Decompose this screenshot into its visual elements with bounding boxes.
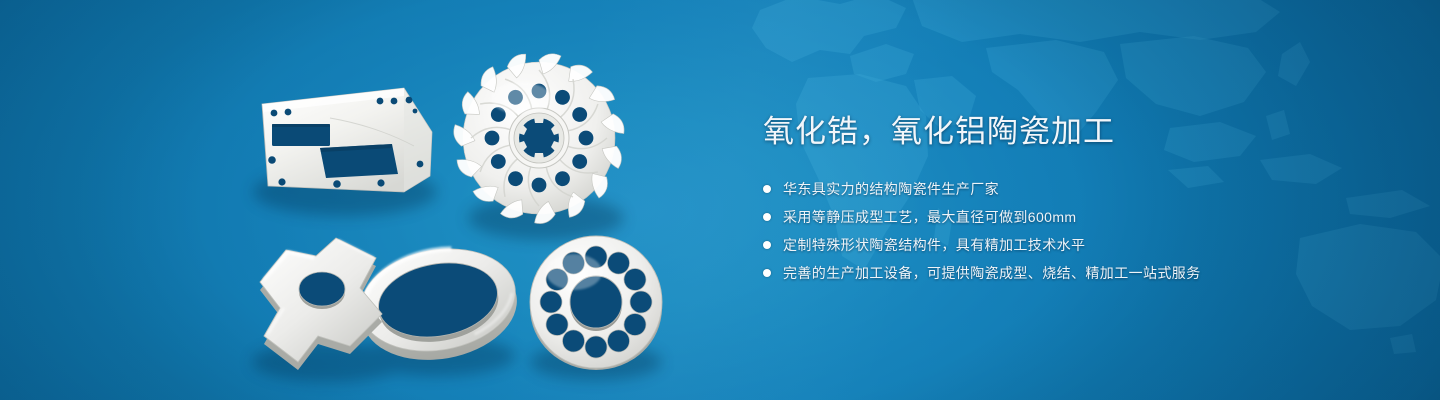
bullet-dot-icon (763, 269, 771, 277)
banner-copy: 氧化锆，氧化铝陶瓷加工 华东具实力的结构陶瓷件生产厂家 采用等静压成型工艺，最大… (763, 112, 1323, 290)
list-item-label: 完善的生产加工设备，可提供陶瓷成型、烧结、精加工一站式服务 (783, 262, 1201, 284)
list-item-label: 定制特殊形状陶瓷结构件，具有精加工技术水平 (783, 234, 1085, 256)
ceramic-impeller-part (453, 52, 626, 225)
ceramic-parts-photo-group (0, 0, 720, 400)
list-item: 完善的生产加工设备，可提供陶瓷成型、烧结、精加工一站式服务 (763, 262, 1323, 284)
ceramic-plate-part (262, 88, 432, 192)
bullet-dot-icon (763, 213, 771, 221)
bullet-dot-icon (763, 185, 771, 193)
ceramic-perforated-disc-part (530, 236, 662, 370)
page-title: 氧化锆，氧化铝陶瓷加工 (763, 112, 1323, 152)
list-item-label: 采用等静压成型工艺，最大直径可做到600mm (783, 206, 1076, 228)
list-item-label: 华东具实力的结构陶瓷件生产厂家 (783, 178, 999, 200)
bullet-dot-icon (763, 241, 771, 249)
feature-list: 华东具实力的结构陶瓷件生产厂家 采用等静压成型工艺，最大直径可做到600mm 定… (763, 178, 1323, 284)
list-item: 华东具实力的结构陶瓷件生产厂家 (763, 178, 1323, 200)
list-item: 定制特殊形状陶瓷结构件，具有精加工技术水平 (763, 234, 1323, 256)
hero-banner: 氧化锆，氧化铝陶瓷加工 华东具实力的结构陶瓷件生产厂家 采用等静压成型工艺，最大… (0, 0, 1440, 400)
list-item: 采用等静压成型工艺，最大直径可做到600mm (763, 206, 1323, 228)
